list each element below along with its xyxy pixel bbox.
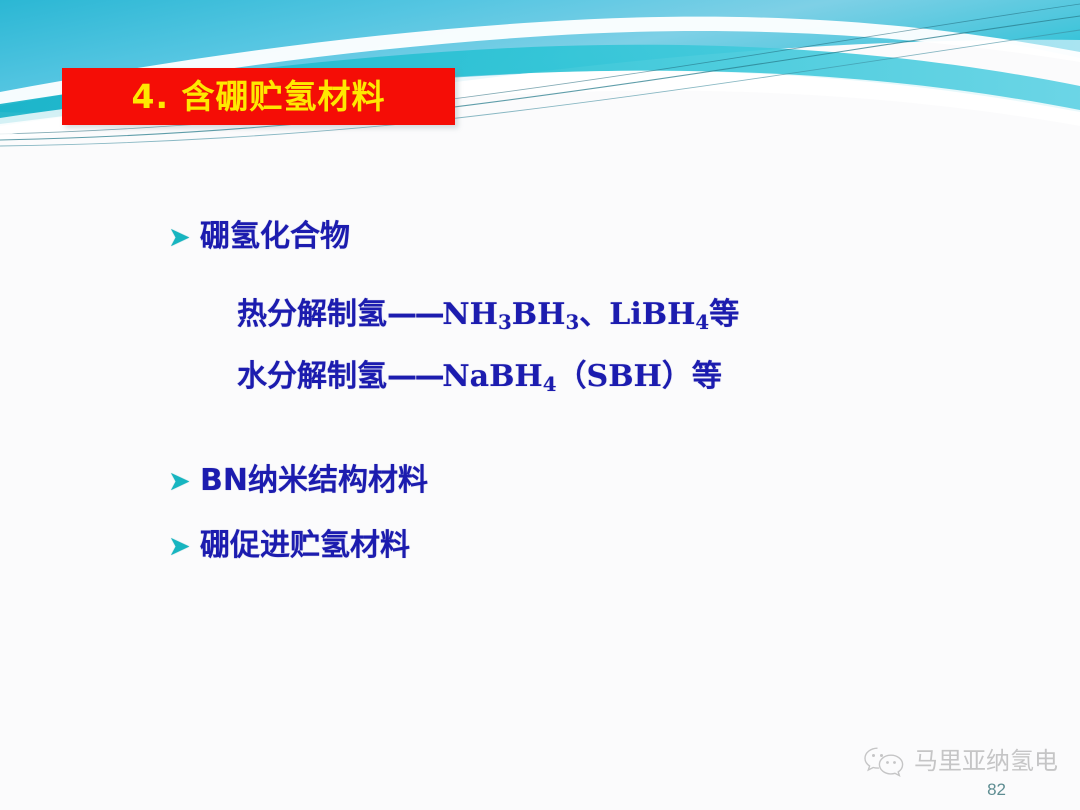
arrow-bullet-icon: ➤ [168,224,200,251]
watermark-text: 马里亚纳氢电 [914,749,1058,773]
bullet-item-bn-nanostructure: ➤ BN纳米结构材料 [0,464,1080,497]
bullet-label-cjk: 纳米结构材料 [248,463,428,498]
formula-subscript: 3 [565,310,579,334]
bullet-item-boron-promoted: ➤ 硼促进贮氢材料 [0,529,1080,562]
formula-base: LiBH [609,297,695,332]
sub-line-prefix: 水分解制氢 [237,359,387,394]
formula-base: NH [442,297,498,332]
formula-nh3bh3: NH3BH3 [442,297,579,332]
paren-open: （ [557,359,587,394]
bullet-label-latin: BN [200,463,248,498]
bullet-label: 硼氢化合物 [200,220,350,253]
slide-body: ➤ 硼氢化合物 热分解制氢——NH3BH3、LiBH4等 水分解制氢——NaBH… [0,210,1080,562]
formula-libh4: LiBH4 [609,297,709,332]
sub-line-dash: —— [387,297,442,332]
sub-line-suffix: 等 [709,297,739,332]
wechat-icon [862,744,906,778]
sub-line-hydrolysis: 水分解制氢——NaBH4（SBH）等 [0,360,1080,396]
arrow-bullet-icon: ➤ [168,533,200,560]
bullet-label: BN纳米结构材料 [200,464,428,497]
paren-close: ） [662,359,692,394]
formula-sbh-abbrev: SBH [587,359,662,394]
sub-line-prefix: 热分解制氢 [237,297,387,332]
page-number: 82 [987,781,1006,798]
sub-line-thermal-decomposition: 热分解制氢——NH3BH3、LiBH4等 [0,298,1080,334]
formula-separator: 、 [579,297,609,332]
bullet-label: 硼促进贮氢材料 [200,529,410,562]
sub-line-suffix: 等 [692,359,722,394]
formula-base: NaBH [442,359,543,394]
sub-line-dash: —— [387,359,442,394]
formula-subscript: 3 [498,310,512,334]
bullet-item-borohydride: ➤ 硼氢化合物 [0,220,1080,253]
formula-mid: BH [512,297,566,332]
formula-nabh4: NaBH4 [442,359,556,394]
page-title: 4. 含硼贮氢材料 [132,80,386,113]
watermark: 马里亚纳氢电 [862,744,1058,778]
formula-subscript: 4 [543,372,557,396]
formula-subscript: 4 [695,310,709,334]
slide-canvas: 4. 含硼贮氢材料 ➤ 硼氢化合物 热分解制氢——NH3BH3、LiBH4等 水… [0,0,1080,810]
arrow-bullet-icon: ➤ [168,468,200,495]
slide-title-banner: 4. 含硼贮氢材料 [62,68,455,125]
